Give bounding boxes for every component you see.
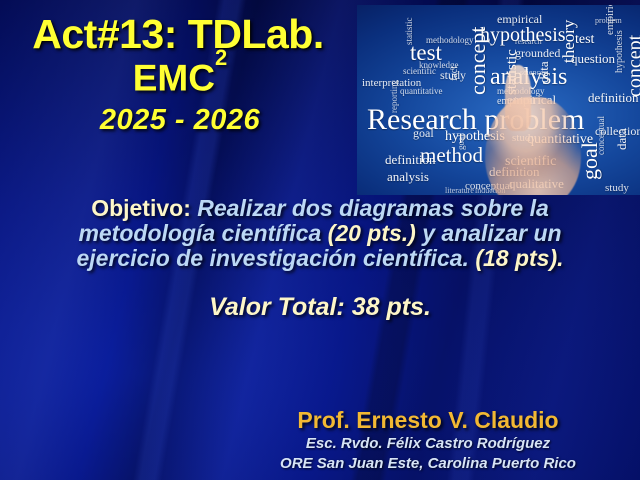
- wordcloud-term: literature: [445, 187, 474, 195]
- wordcloud-term: empirical: [497, 13, 542, 25]
- wordcloud-term: quantitative: [400, 87, 443, 96]
- objective-label: Objetivo:: [91, 195, 191, 221]
- wordcloud-term: study: [605, 183, 629, 194]
- title-block: Act#13: TDLab. EMC2 2025 - 2026: [0, 14, 360, 137]
- wordcloud-term: goal: [457, 135, 466, 151]
- research-wordcloud-image: Research problemanalysishypothesistestme…: [357, 5, 640, 195]
- wordcloud-term: test: [575, 33, 594, 47]
- footer-block: Prof. Ernesto V. Claudio Esc. Rvdo. Féli…: [228, 407, 628, 474]
- objective-line3-post: .: [557, 245, 563, 271]
- objective-line-1: Objetivo: Realizar dos diagramas sobre l…: [10, 196, 630, 221]
- wordcloud-term: goal: [413, 127, 434, 139]
- wordcloud-term: methodology: [426, 36, 474, 45]
- objective-line2-post: y analizar un: [416, 220, 562, 246]
- wordcloud-term: research: [515, 38, 542, 46]
- objective-line1-text: Realizar dos diagramas sobre la: [191, 195, 549, 221]
- objective-line-2: metodología científica (20 pts.) y anali…: [10, 221, 630, 246]
- objective-line2-pre: metodología científica: [78, 220, 327, 246]
- professor-name: Prof. Ernesto V. Claudio: [228, 407, 628, 433]
- school-name: Esc. Rvdo. Félix Castro Rodríguez: [228, 434, 628, 454]
- wordcloud-term: definition: [385, 153, 436, 166]
- wordcloud-term: analysis: [387, 170, 429, 183]
- wordcloud-term: reporting: [390, 80, 399, 113]
- school-year: 2025 - 2026: [0, 104, 360, 137]
- wordcloud-term: fact: [450, 66, 460, 81]
- objective-line-3: ejercicio de investigación científica. (…: [10, 246, 630, 271]
- index-finger-icon: [505, 65, 531, 131]
- slide-title: Act#13: TDLab.: [0, 14, 360, 56]
- objective-points-exercise: (18 pts): [475, 245, 557, 271]
- objective-block: Objetivo: Realizar dos diagramas sobre l…: [10, 196, 630, 271]
- wordcloud-term: statistic: [405, 18, 414, 46]
- district-name: ORE San Juan Este, Carolina Puerto Rico: [228, 454, 628, 474]
- subtitle-base: EMC: [133, 57, 215, 98]
- subtitle-exponent: 2: [215, 45, 227, 70]
- objective-points-diagrams: (20 pts.): [328, 220, 416, 246]
- wordcloud-term: conceptual: [597, 116, 606, 155]
- wordcloud-term: question: [571, 52, 615, 65]
- objective-line3-pre: ejercicio de investigación científica.: [76, 245, 475, 271]
- presentation-slide: Research problemanalysishypothesistestme…: [0, 0, 640, 480]
- slide-subtitle: EMC2: [0, 58, 360, 98]
- wordcloud-term: concept: [625, 35, 640, 97]
- wordcloud-term: definition: [588, 91, 639, 104]
- wordcloud-term: grounded: [515, 47, 560, 59]
- wordcloud-term: hypothesis: [615, 30, 625, 73]
- pointing-hand-icon: [485, 97, 581, 195]
- total-value-text: Valor Total: 38 pts.: [10, 293, 630, 322]
